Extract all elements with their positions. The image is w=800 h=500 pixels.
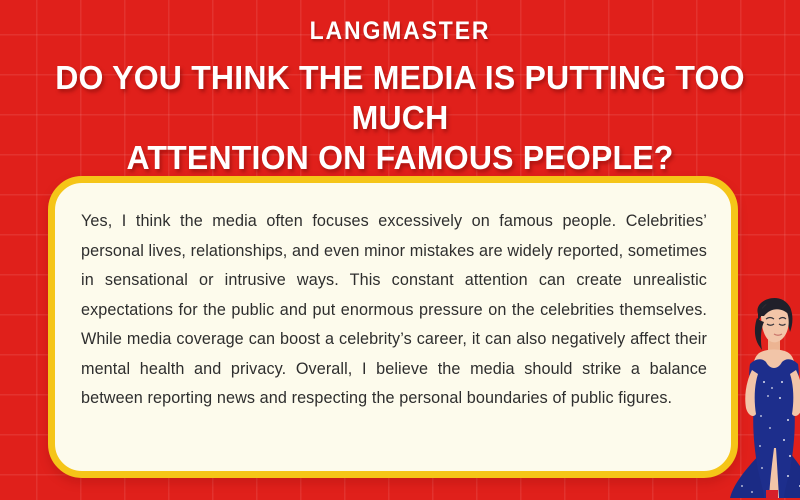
answer-card: Yes, I think the media often focuses exc… (48, 176, 738, 478)
page-title-line-2: ATTENTION ON FAMOUS PEOPLE? (29, 138, 770, 178)
poster-canvas: LANGMASTER DO YOU THINK THE MEDIA IS PUT… (0, 0, 800, 500)
brand-logo-langmaster: LANGMASTER (32, 17, 768, 46)
answer-card-text: Yes, I think the media often focuses exc… (81, 207, 707, 414)
woman-in-blue-gown-illustration (728, 296, 800, 500)
page-title: DO YOU THINK THE MEDIA IS PUTTING TOO MU… (29, 58, 770, 178)
page-title-line-1: DO YOU THINK THE MEDIA IS PUTTING TOO MU… (29, 58, 770, 138)
